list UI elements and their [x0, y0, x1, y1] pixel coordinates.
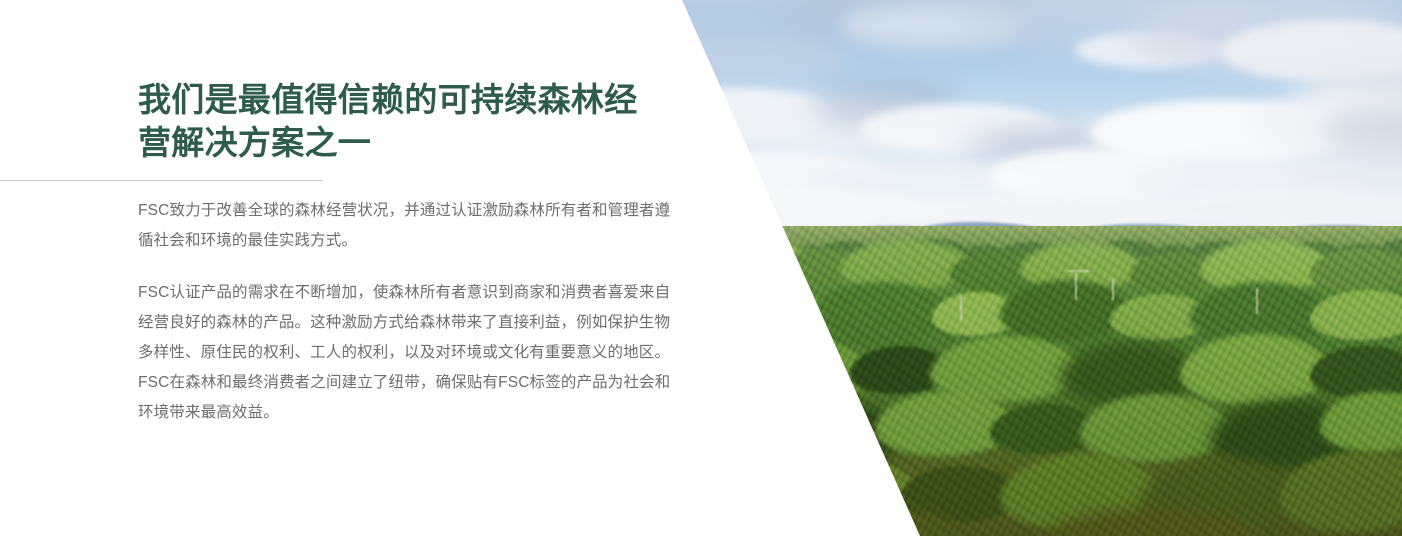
hero-section: 我们是最值得信赖的可持续森林经营解决方案之一 FSC致力于改善全球的森林经营状况… — [0, 0, 1402, 536]
forest-canopy — [660, 226, 1402, 536]
body-copy: FSC致力于改善全球的森林经营状况，并通过认证激励森林所有者和管理者遵循社会和环… — [138, 196, 671, 428]
hero-text-column: 我们是最值得信赖的可持续森林经营解决方案之一 FSC致力于改善全球的森林经营状况… — [0, 0, 700, 536]
divider-rule — [0, 180, 322, 181]
rainforest-photo — [660, 0, 1402, 536]
paragraph-2: FSC认证产品的需求在不断增加，使森林所有者意识到商家和消费者喜爱来自经营良好的… — [138, 278, 671, 428]
canopy-shading — [660, 226, 1402, 536]
page-title: 我们是最值得信赖的可持续森林经营解决方案之一 — [138, 78, 658, 164]
paragraph-1: FSC致力于改善全球的森林经营状况，并通过认证激励森林所有者和管理者遵循社会和环… — [138, 196, 671, 256]
